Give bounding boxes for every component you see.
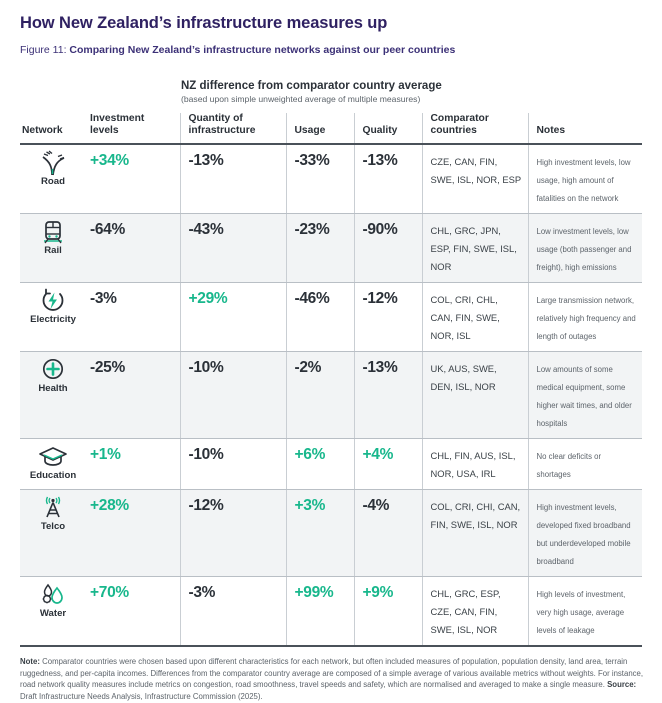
usage-cell-value: +3% [295,497,326,514]
column-header-investment-levels: Investment levels [88,113,180,144]
quality-cell: +4% [354,438,422,489]
usage-cell-value: -33% [295,152,330,169]
source-text: Draft Infrastructure Needs Analysis, Inf… [20,692,263,701]
column-header-quality: Quality [354,113,422,144]
road-icon [20,150,86,176]
notes-cell: Low amounts of some medical equipment, s… [528,351,642,438]
investment-levels-cell: +70% [88,576,180,646]
usage-cell-value: -46% [295,290,330,307]
network-cell: Electricity [20,282,88,351]
table-row: Rail-64%-43%-23%-90%CHL, GRC, JPN, ESP, … [20,213,642,282]
comparator-countries-cell: UK, AUS, SWE, DEN, ISL, NOR [422,351,528,438]
quality-cell: -12% [354,282,422,351]
quality-cell: -90% [354,213,422,282]
comparator-countries-cell: COL, CRI, CHL, CAN, FIN, SWE, NOR, ISL [422,282,528,351]
quality-cell-value: -12% [363,290,398,307]
network-label: Rail [20,246,86,257]
comparator-countries-text: CHL, GRC, JPN, ESP, FIN, SWE, ISL, NOR [431,225,517,272]
comparator-countries-cell: COL, CRI, CHI, CAN, FIN, SWE, ISL, NOR [422,489,528,576]
page-title: How New Zealand’s infrastructure measure… [20,14,642,33]
notes-text: Low investment levels, low usage (both p… [537,227,632,272]
comparator-countries-text: COL, CRI, CHI, CAN, FIN, SWE, ISL, NOR [431,501,521,530]
network-label: Health [20,384,86,395]
comparator-countries-cell: CHL, GRC, JPN, ESP, FIN, SWE, ISL, NOR [422,213,528,282]
investment-levels-cell-value: +34% [90,152,129,169]
notes-cell: High investment levels, low usage, high … [528,144,642,214]
figure-page: How New Zealand’s infrastructure measure… [0,0,662,525]
table-row: Health-25%-10%-2%-13%UK, AUS, SWE, DEN, … [20,351,642,438]
note-label: Note: [20,657,40,666]
quantity-of-infrastructure-cell: -10% [180,438,286,489]
network-label: Road [20,177,86,188]
quantity-of-infrastructure-cell-value: +29% [189,290,228,307]
table-super-header: NZ difference from comparator country av… [20,79,642,113]
quality-cell-value: -13% [363,152,398,169]
source-label: Source: [607,680,636,689]
notes-text: No clear deficits or shortages [537,452,602,479]
quantity-of-infrastructure-cell-value: -10% [189,446,224,463]
usage-cell: -33% [286,144,354,214]
usage-cell-value: +6% [295,446,326,463]
notes-cell: No clear deficits or shortages [528,438,642,489]
comparator-countries-text: COL, CRI, CHL, CAN, FIN, SWE, NOR, ISL [431,294,500,341]
quality-cell-value: +4% [363,446,394,463]
table-row: Education+1%-10%+6%+4%CHL, FIN, AUS, ISL… [20,438,642,489]
quantity-of-infrastructure-cell-value: -43% [189,221,224,238]
notes-text: High investment levels, developed fixed … [537,503,631,566]
usage-cell: -2% [286,351,354,438]
notes-cell: Large transmission network, relatively h… [528,282,642,351]
quantity-of-infrastructure-cell: -3% [180,576,286,646]
network-cell: Rail [20,213,88,282]
super-header-title: NZ difference from comparator country av… [181,79,642,93]
investment-levels-cell-value: +70% [90,584,129,601]
quality-cell: -4% [354,489,422,576]
table-header-row: Network Investment levels Quantity of in… [20,113,642,144]
usage-cell: -23% [286,213,354,282]
quantity-of-infrastructure-cell-value: -3% [189,584,216,601]
usage-cell: -46% [286,282,354,351]
network-label: Electricity [20,315,86,326]
comparator-countries-text: UK, AUS, SWE, DEN, ISL, NOR [431,363,497,392]
network-cell: Telco [20,489,88,576]
quality-cell-value: +9% [363,584,394,601]
train-icon [20,219,86,245]
comparator-countries-cell: CZE, CAN, FIN, SWE, ISL, NOR, ESP [422,144,528,214]
quality-cell-value: -4% [363,497,390,514]
investment-levels-cell: +34% [88,144,180,214]
comparator-countries-text: CHL, GRC, ESP, CZE, CAN, FIN, SWE, ISL, … [431,588,501,635]
notes-text: Low amounts of some medical equipment, s… [537,365,632,428]
usage-cell-value: +99% [295,584,334,601]
quantity-of-infrastructure-cell: -12% [180,489,286,576]
usage-cell: +6% [286,438,354,489]
notes-cell: High levels of investment, very high usa… [528,576,642,646]
investment-levels-cell-value: -3% [90,290,117,307]
quality-cell: -13% [354,351,422,438]
column-header-usage: Usage [286,113,354,144]
table-row: Road+34%-13%-33%-13%CZE, CAN, FIN, SWE, … [20,144,642,214]
quantity-of-infrastructure-cell: -13% [180,144,286,214]
comparator-countries-cell: CHL, FIN, AUS, ISL, NOR, USA, IRL [422,438,528,489]
quantity-of-infrastructure-cell-value: -10% [189,359,224,376]
comparator-countries-text: CHL, FIN, AUS, ISL, NOR, USA, IRL [431,450,516,479]
investment-levels-cell-value: -25% [90,359,125,376]
quantity-of-infrastructure-cell-value: -12% [189,497,224,514]
investment-levels-cell: +28% [88,489,180,576]
usage-cell: +3% [286,489,354,576]
medical-cross-icon [20,357,86,383]
usage-cell-value: -2% [295,359,322,376]
quantity-of-infrastructure-cell: +29% [180,282,286,351]
usage-cell-value: -23% [295,221,330,238]
quality-cell-value: -90% [363,221,398,238]
note-text: Comparator countries were chosen based u… [20,657,643,690]
super-header-subtitle: (based upon simple unweighted average of… [181,94,642,105]
usage-cell: +99% [286,576,354,646]
investment-levels-cell: -64% [88,213,180,282]
network-cell: Road [20,144,88,214]
notes-text: High investment levels, low usage, high … [537,158,631,203]
investment-levels-cell-value: +28% [90,497,129,514]
comparator-countries-text: CZE, CAN, FIN, SWE, ISL, NOR, ESP [431,156,522,185]
lightning-bolt-icon [20,288,86,314]
quantity-of-infrastructure-cell-value: -13% [189,152,224,169]
quality-cell-value: -13% [363,359,398,376]
quality-cell: +9% [354,576,422,646]
quantity-of-infrastructure-cell: -10% [180,351,286,438]
figure-caption-text: Comparing New Zealand’s infrastructure n… [69,44,455,56]
infrastructure-comparison-table: Network Investment levels Quantity of in… [20,113,642,647]
investment-levels-cell: +1% [88,438,180,489]
quality-cell: -13% [354,144,422,214]
column-header-network: Network [20,113,88,144]
comparator-countries-cell: CHL, GRC, ESP, CZE, CAN, FIN, SWE, ISL, … [422,576,528,646]
notes-cell: Low investment levels, low usage (both p… [528,213,642,282]
investment-levels-cell: -3% [88,282,180,351]
table-row: Electricity-3%+29%-46%-12%COL, CRI, CHL,… [20,282,642,351]
investment-levels-cell: -25% [88,351,180,438]
column-header-quantity-of-infrastructure: Quantity of infrastructure [180,113,286,144]
table-footnote: Note: Comparator countries were chosen b… [20,656,648,703]
investment-levels-cell-value: -64% [90,221,125,238]
network-cell: Education [20,438,88,489]
table-row: Water+70%-3%+99%+9%CHL, GRC, ESP, CZE, C… [20,576,642,646]
broadcast-tower-icon [20,495,86,521]
figure-caption-line: Figure 11: Comparing New Zealand’s infra… [20,44,642,57]
notes-text: High levels of investment, very high usa… [537,590,626,635]
notes-cell: High investment levels, developed fixed … [528,489,642,576]
figure-number: Figure 11: [20,44,69,56]
notes-text: Large transmission network, relatively h… [537,296,636,341]
table-body: Road+34%-13%-33%-13%CZE, CAN, FIN, SWE, … [20,144,642,646]
network-label: Water [20,609,86,620]
column-header-notes: Notes [528,113,642,144]
table-row: Telco+28%-12%+3%-4%COL, CRI, CHI, CAN, F… [20,489,642,576]
network-label: Telco [20,522,86,533]
column-header-comparator-countries: Comparator countries [422,113,528,144]
water-droplet-icon [20,582,86,608]
network-cell: Water [20,576,88,646]
network-cell: Health [20,351,88,438]
investment-levels-cell-value: +1% [90,446,121,463]
network-label: Education [20,471,86,482]
quantity-of-infrastructure-cell: -43% [180,213,286,282]
graduation-cap-icon [20,444,86,470]
